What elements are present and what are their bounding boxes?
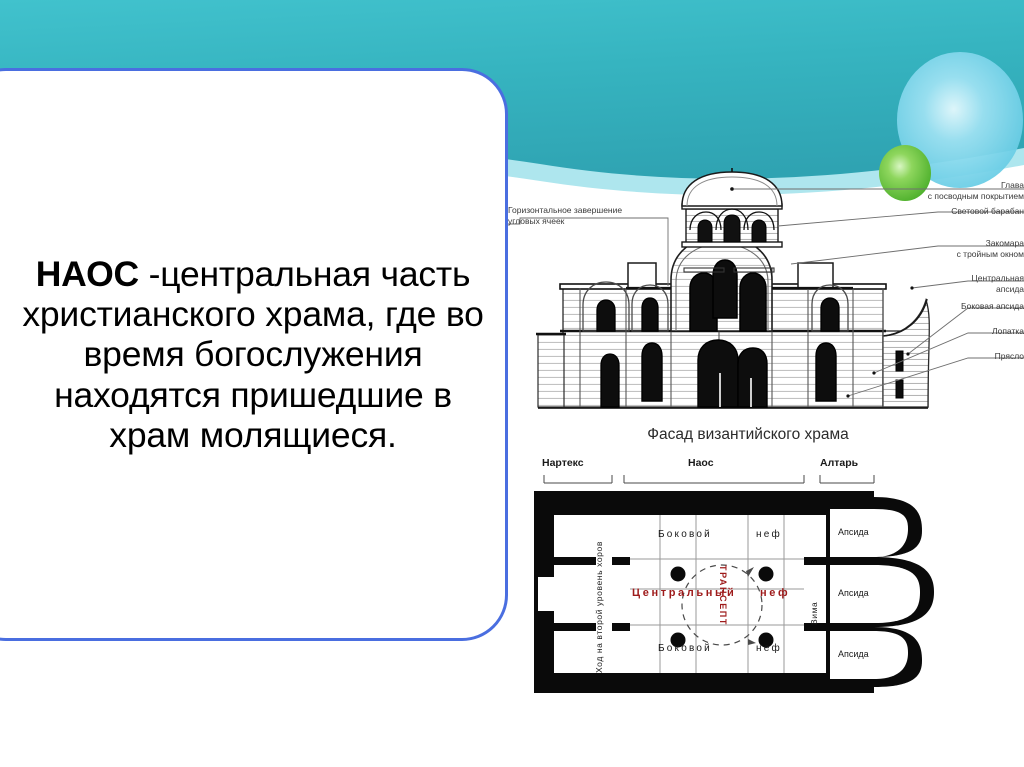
callout-glava: Глава с посводным покрытием	[928, 180, 1024, 201]
plan-label-vima: Вима	[809, 571, 819, 625]
callout-centralnaya-apsida-line1: Центральная	[972, 273, 1024, 284]
callout-lopatka: Лопатка	[992, 326, 1024, 337]
callout-centralnaya-apsida-line2: апсида	[972, 284, 1024, 295]
plan-label-apse-mid: Апсида	[838, 588, 869, 598]
facade-figure: Глава с посводным покрытием Световой бар…	[508, 168, 1024, 448]
plan-drawing	[508, 453, 1024, 703]
plan-zone-narthex: Нартекс	[542, 457, 584, 469]
callout-centralnaya-apsida: Центральная апсида	[972, 273, 1024, 294]
callout-pryaslo-line1: Прясло	[995, 351, 1024, 362]
plan-label-side-nave-top-b: неф	[756, 529, 782, 540]
plan-label-apse-top: Апсида	[838, 527, 869, 537]
plan-zone-brackets	[544, 475, 874, 483]
callout-gorizontalnoe-line1: Горизонтальное завершение	[508, 205, 622, 216]
slide-canvas: НАОС -центральная часть христианского хр…	[0, 0, 1024, 767]
callout-zakomara-line2: с тройным окном	[957, 249, 1024, 260]
plan-label-transept: ТРАНСЕПТ	[718, 565, 728, 651]
callout-glava-line2: с посводным покрытием	[928, 191, 1024, 202]
callout-bokovaya-apsida-line1: Боковая апсида	[961, 301, 1024, 312]
callout-glava-line1: Глава	[928, 180, 1024, 191]
term-naos: НАОС	[36, 254, 139, 294]
plan-zone-altar: Алтарь	[820, 457, 858, 469]
plan-zone-naos: Наос	[688, 457, 714, 469]
plan-label-apse-bottom: Апсида	[838, 649, 869, 659]
callout-gorizontalnoe-line2: угловых ячеек	[508, 216, 622, 227]
callout-lopatka-line1: Лопатка	[992, 326, 1024, 337]
callout-bokovaya-apsida: Боковая апсида	[961, 301, 1024, 312]
plan-label-central-nave-b: неф	[760, 587, 790, 599]
callout-svetovoy-baraban: Световой барабан	[951, 206, 1024, 217]
callout-zakomara-line1: Закомара	[957, 238, 1024, 249]
callout-svetovoy-baraban-line1: Световой барабан	[951, 206, 1024, 217]
plan-label-side-nave-bottom-a: Боковой	[658, 643, 712, 654]
plan-figure: Нартекс Наос Алтарь Боковой неф Боковой …	[508, 453, 1024, 723]
callout-gorizontalnoe-zavershenie: Горизонтальное завершение угловых ячеек	[508, 205, 622, 226]
definition-text: НАОС -центральная часть христианского хр…	[13, 254, 493, 455]
plan-label-stairs: Ход на второй уровень хоров	[594, 521, 604, 673]
illustrations-column: Глава с посводным покрытием Световой бар…	[508, 168, 1024, 767]
plan-label-side-nave-bottom-b: неф	[756, 643, 782, 654]
facade-caption: Фасад византийского храма	[568, 426, 928, 444]
callout-zakomara: Закомара с тройным окном	[957, 238, 1024, 259]
plan-label-side-nave-top-a: Боковой	[658, 529, 712, 540]
definition-card: НАОС -центральная часть христианского хр…	[0, 68, 508, 641]
callout-pryaslo: Прясло	[995, 351, 1024, 362]
